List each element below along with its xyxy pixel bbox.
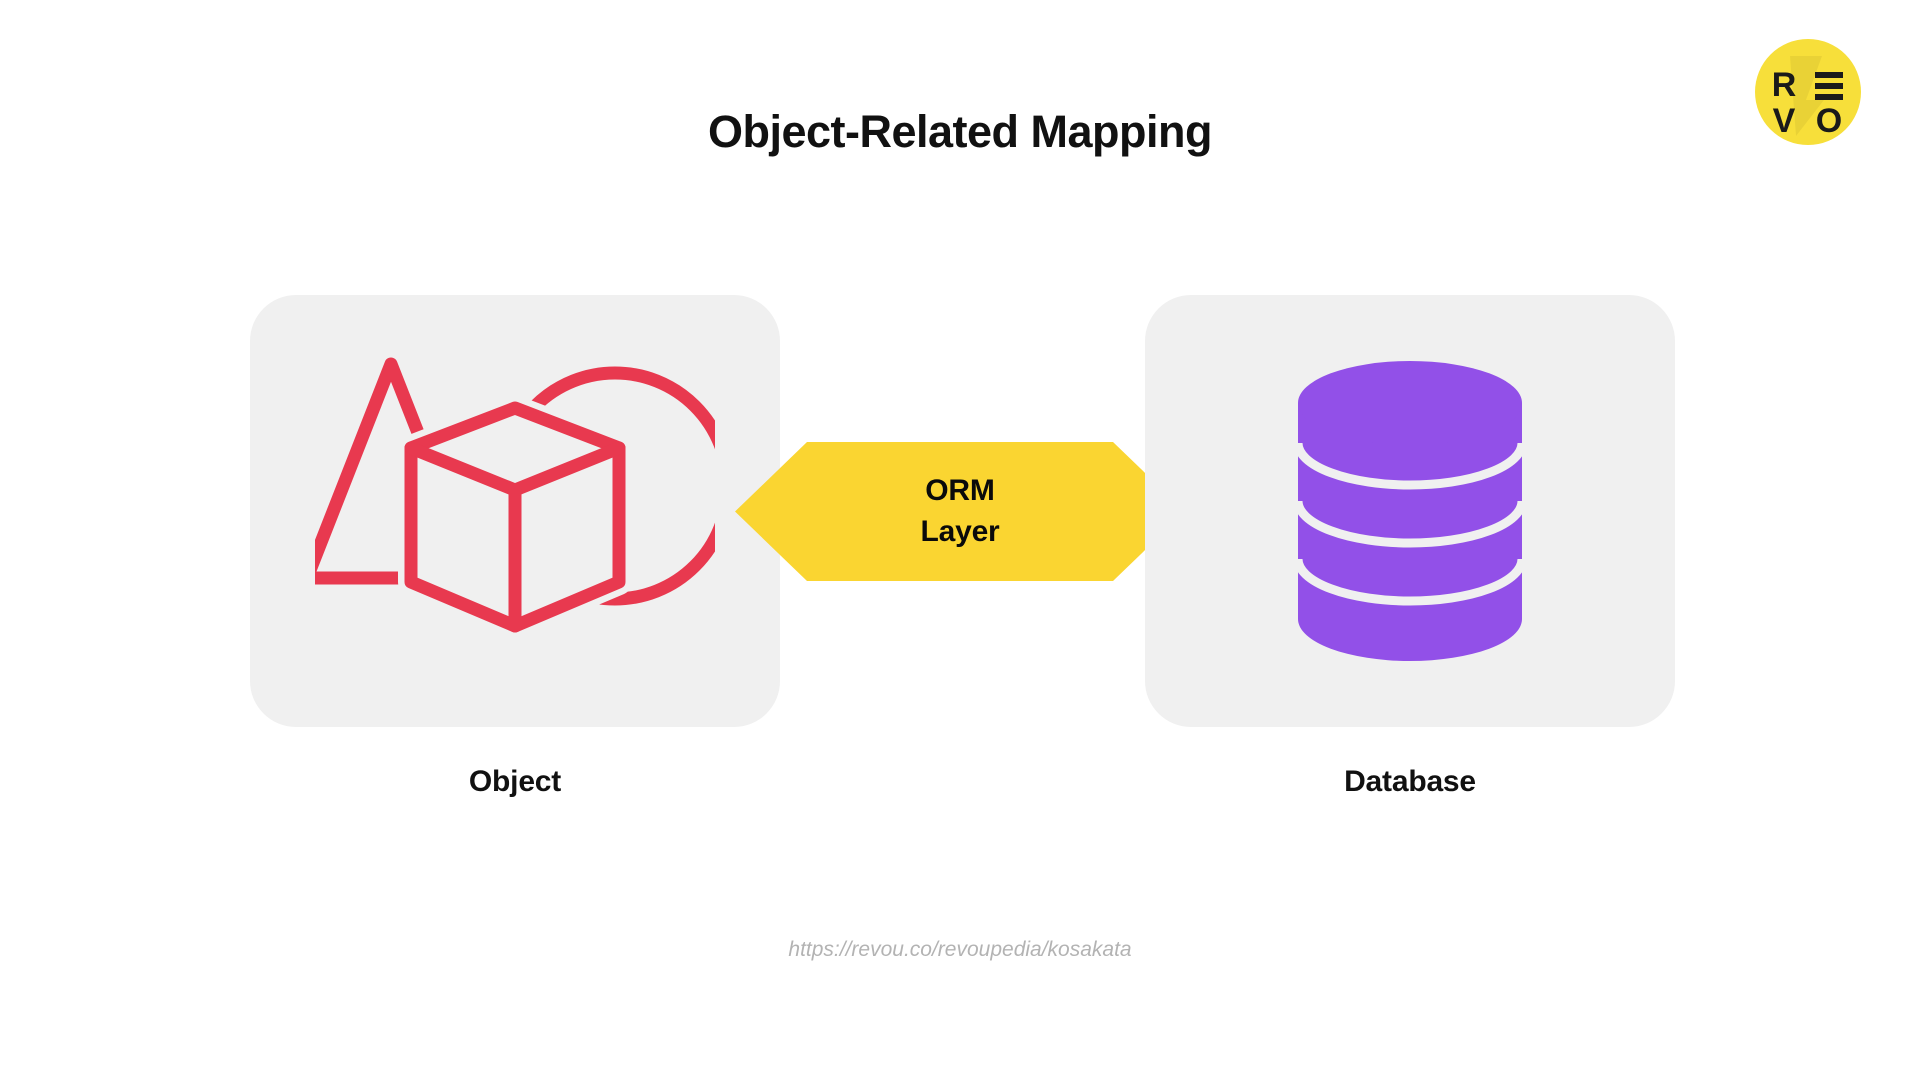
slide-canvas: R V O Object-Related Mapping [0, 0, 1920, 1080]
shapes-cube-triangle-circle-icon [250, 295, 780, 727]
page-title: Object-Related Mapping [0, 105, 1920, 159]
svg-text:R: R [1772, 66, 1797, 104]
source-url: https://revou.co/revoupedia/kosakata [0, 938, 1920, 962]
object-card [250, 295, 780, 727]
database-card-label: Database [1145, 765, 1675, 799]
database-card [1145, 295, 1675, 727]
orm-layer-connector: ORM Layer [735, 434, 1185, 589]
database-cylinder-icon [1145, 295, 1675, 727]
object-card-label: Object [250, 765, 780, 799]
